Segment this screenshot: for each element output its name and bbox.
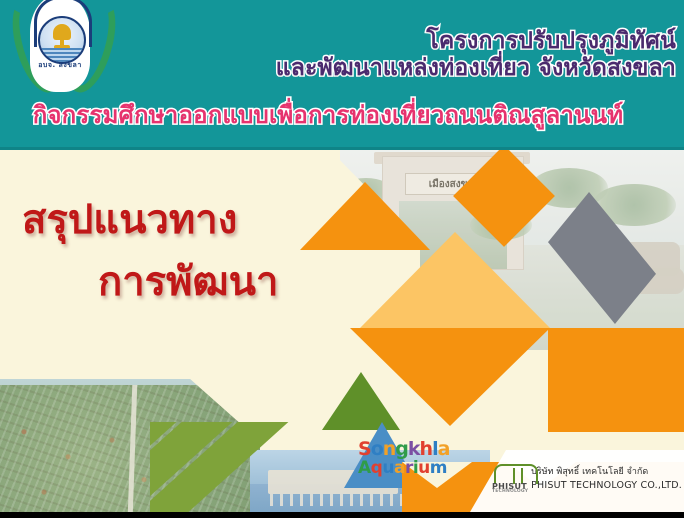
aq-letter: u [382,458,394,478]
phisut-arch-icon [494,464,538,484]
aq-letter: n [383,438,396,460]
aq-letter: k [408,438,420,460]
company-name-english: PHISUT TECHNOLOGY CO.,LTD. [531,479,682,492]
tangram-green-triangle [322,372,400,430]
presentation-slide: อบจ. สงขลา โครงการปรับปรุงภูมิทัศน์ และพ… [0,0,684,518]
aq-letter: m [430,458,447,478]
aq-letter: a [394,458,405,478]
aquarium-logo-word-aquarium: Aquarium [358,460,488,477]
slide-headline: สรุปแนวทาง การพัฒนา [0,198,350,304]
headline-line-1: สรุปแนวทาง [0,198,350,242]
songkhla-aquarium-logo: Songkhla Aquarium [358,440,488,486]
phisut-company-logo: PHISUT TECHNOLOGY บริษัท พิสุทธิ์ เทคโนโ… [492,462,682,496]
tangram-gray-parallelogram [548,192,656,324]
project-title-line-2: และพัฒนาแหล่งท่องเที่ยว จังหวัดสงขลา [76,55,676,82]
aq-letter: h [420,438,433,460]
aq-letter: u [418,458,430,478]
aq-letter: o [371,438,383,460]
header-title-block: โครงการปรับปรุงภูมิทัศน์ และพัฒนาแหล่งท่… [76,28,676,82]
project-title-line-1: โครงการปรับปรุงภูมิทัศน์ [76,28,676,55]
project-title-line-3-wrap: กิจกรรมศึกษาออกแบบเพื่อการท่องเที่ยวถนนต… [0,100,678,130]
aquarium-logo-word-songkhla: Songkhla [358,440,488,459]
aq-letter: S [358,438,371,460]
tangram-orange-right-triangle [548,328,684,432]
phisut-company-text: บริษัท พิสุทธิ์ เทคโนโลยี จำกัด PHISUT T… [531,466,682,492]
phisut-mark-subname: TECHNOLOGY [492,489,536,494]
aq-letter: A [358,458,371,478]
aq-letter: q [371,458,383,478]
slide-header: อบจ. สงขลา โครงการปรับปรุงภูมิทัศน์ และพ… [0,0,684,150]
company-name-thai: บริษัท พิสุทธิ์ เทคโนโลยี จำกัด [531,466,682,479]
slide-body: เมืองสงขลา สรุปแนวทาง การพัฒนา [0,150,684,512]
project-title-line-3: กิจกรรมศึกษาออกแบบเพื่อการท่องเที่ยวถนนต… [0,100,678,130]
aq-letter: g [395,438,408,460]
aq-letter: a [438,438,450,460]
aq-letter: r [405,458,413,478]
phisut-mark-icon: PHISUT TECHNOLOGY [492,464,523,494]
headline-line-2: การพัฒนา [0,260,350,304]
tangram-orange-diamond [453,150,555,247]
